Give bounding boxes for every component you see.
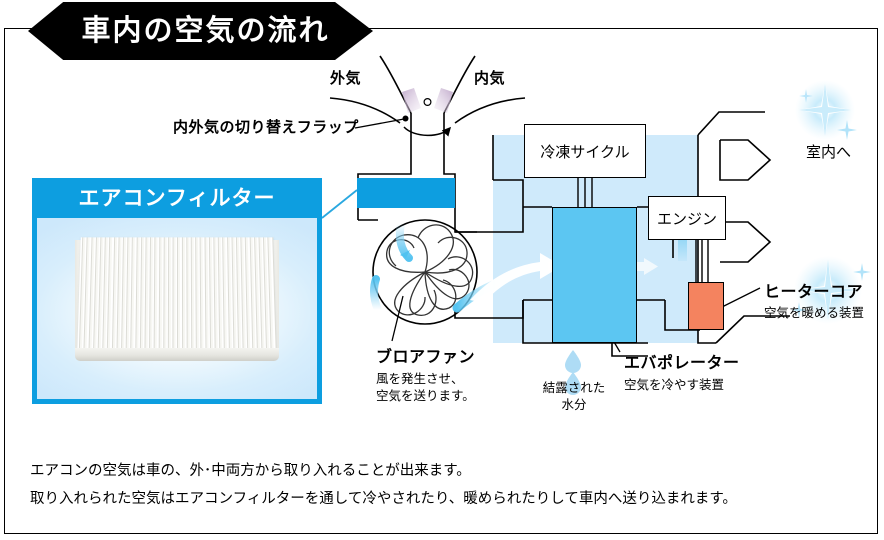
- cabin-air-filter-photo: [37, 218, 317, 399]
- condensation-title-line2: 水分: [530, 398, 618, 414]
- air-filter-panel: エアコンフィルター: [32, 178, 322, 404]
- caption-line-1: エアコンの空気は車の、外･中両方から取り入れることが出来ます。: [30, 458, 850, 486]
- refrigeration-cycle-box: 冷凍サイクル: [524, 124, 646, 178]
- evaporator-unit: [552, 207, 637, 343]
- caption-block: エアコンの空気は車の、外･中両方から取り入れることが出来ます。 取り入れられた空…: [30, 458, 850, 513]
- caption-line-2: 取り入れられた空気はエアコンフィルターを通して冷やされたり、暖められたりして車内…: [30, 486, 850, 514]
- blower-fan-desc-line1: 風を発生させ、: [376, 372, 464, 388]
- air-filter-panel-title: エアコンフィルター: [79, 182, 276, 212]
- title-banner: 車内の空気の流れ: [28, 2, 373, 60]
- inside-air-label: 内気: [474, 70, 505, 89]
- air-source-flap-label: 内外気の切り替えフラップ: [173, 119, 359, 138]
- filter-frame-front: [75, 348, 279, 361]
- filter-pleats: [77, 237, 277, 354]
- page-title: 車内の空気の流れ: [71, 17, 329, 46]
- heater-core-desc: 空気を暖める装置: [764, 306, 864, 322]
- engine-box: エンジン: [648, 196, 726, 240]
- condensation-title-line1: 結露された: [530, 381, 618, 397]
- outside-air-label: 外気: [330, 70, 361, 89]
- evaporator-title: エバポレーター: [624, 354, 740, 374]
- to-cabin-label: 室内へ: [806, 144, 851, 163]
- blower-fan-desc-line2: 空気を送ります。: [376, 389, 475, 405]
- engine-label: エンジン: [657, 208, 717, 229]
- evaporator-desc: 空気を冷やす装置: [624, 378, 724, 394]
- air-filter-element: [357, 178, 455, 208]
- air-flow-infographic: 車内の空気の流れ エアコンフィルター 冷凍サイクル エンジン 外気 内気 内外気…: [0, 0, 884, 540]
- refrigeration-cycle-label: 冷凍サイクル: [540, 141, 629, 162]
- blower-fan-title: ブロアファン: [376, 348, 475, 368]
- heater-core-title: ヒーターコア: [764, 283, 863, 303]
- heater-core-unit: [688, 282, 724, 330]
- air-filter-panel-header: エアコンフィルター: [32, 178, 322, 216]
